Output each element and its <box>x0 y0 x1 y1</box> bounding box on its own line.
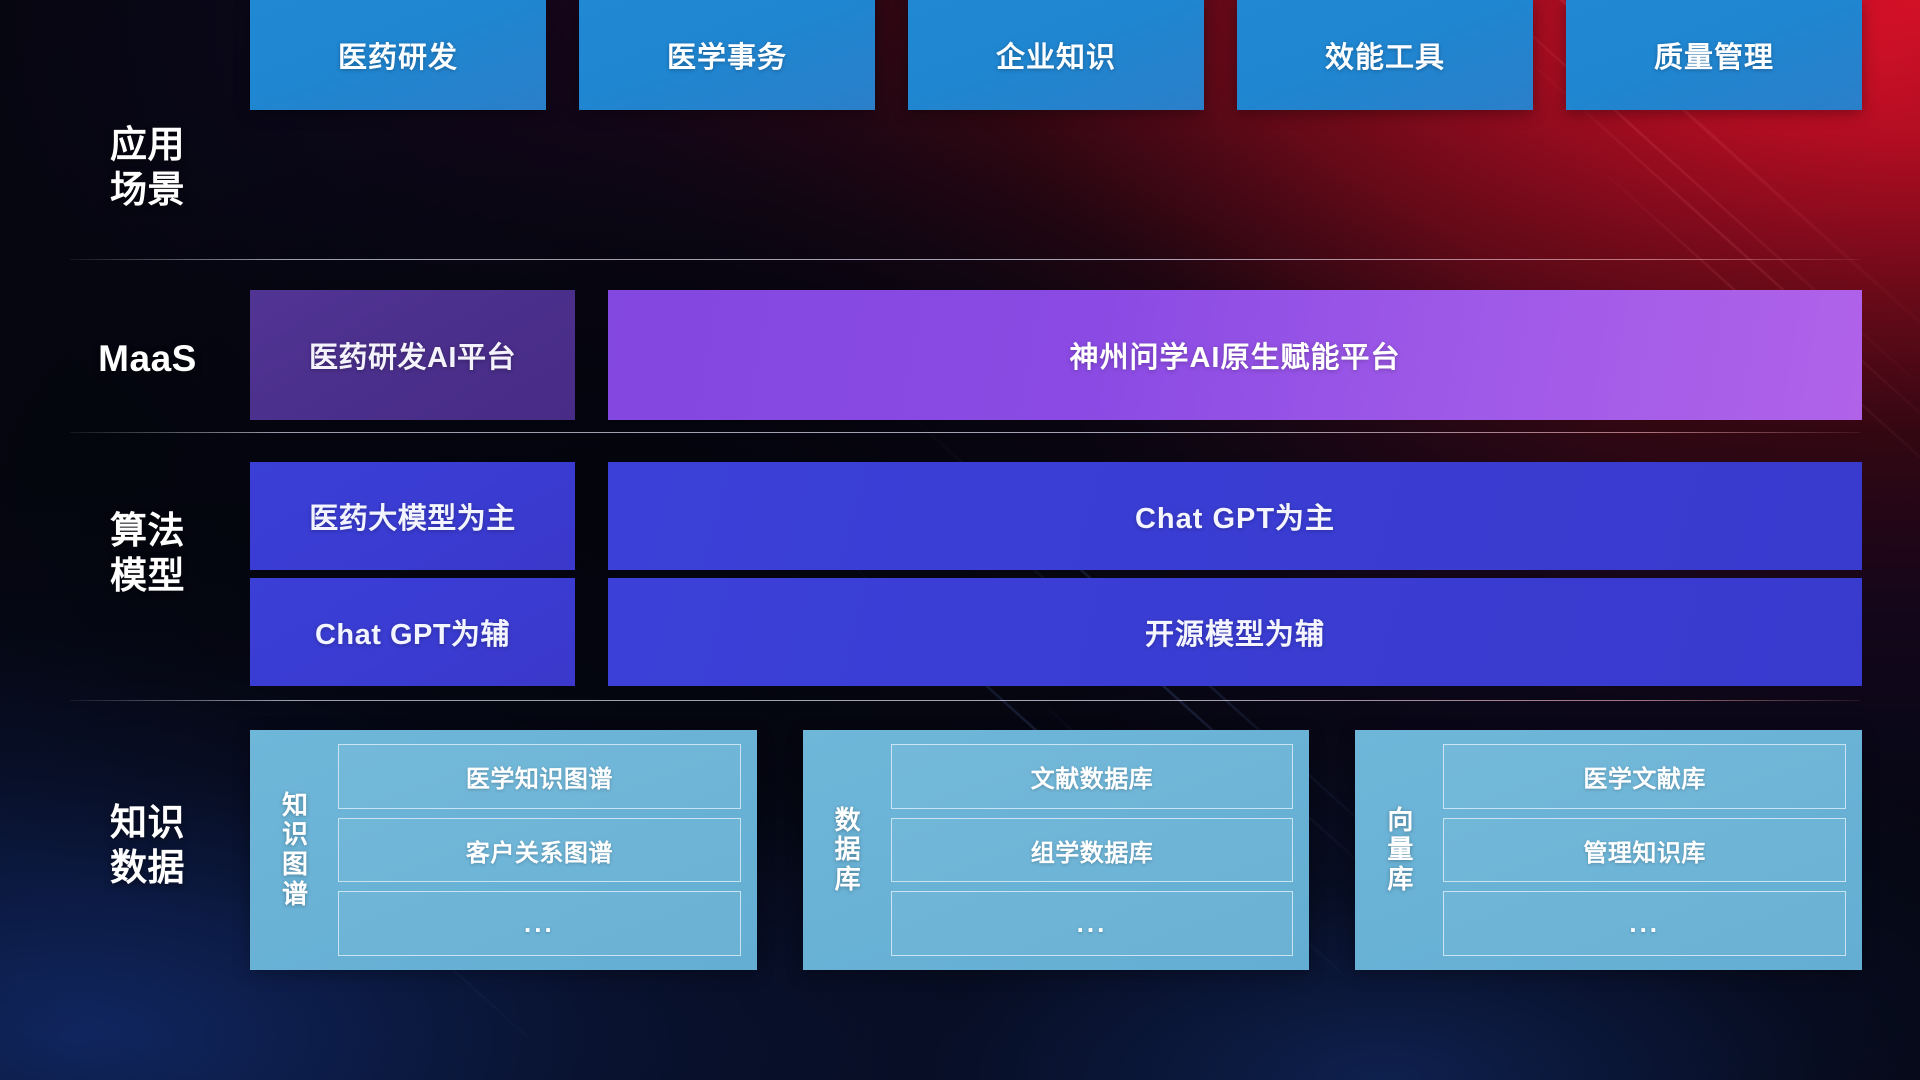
algo-box-chatgpt-secondary[interactable]: Chat GPT为辅 <box>250 578 575 686</box>
knowledge-group-title-database: 数 据 库 <box>817 744 879 956</box>
divider-after-maas <box>70 432 1860 433</box>
app-card-medicine-rd[interactable]: 医药研发 <box>250 0 546 110</box>
title-char: 数 <box>835 806 861 836</box>
knowledge-group-knowledge-graph: 知 识 图 谱 医学知识图谱 客户关系图谱 ... <box>250 730 757 970</box>
knowledge-item-more[interactable]: ... <box>338 891 741 956</box>
knowledge-group-items: 医学文献库 管理知识库 ... <box>1443 744 1846 956</box>
knowledge-item-medical-literature-store[interactable]: 医学文献库 <box>1443 744 1846 809</box>
title-char: 图 <box>282 850 308 880</box>
row-label-line-2: 数据 <box>55 845 240 890</box>
maas-box-label: 神州问学AI原生赋能平台 <box>1069 334 1400 376</box>
knowledge-item-more[interactable]: ... <box>891 891 1294 956</box>
knowledge-item-label: 文献数据库 <box>1031 759 1154 794</box>
knowledge-item-label: 管理知识库 <box>1583 833 1706 868</box>
app-card-label: 效能工具 <box>1325 34 1445 76</box>
knowledge-group-items: 医学知识图谱 客户关系图谱 ... <box>338 744 741 956</box>
row-label-maas: MaaS <box>55 336 240 381</box>
title-char: 量 <box>1387 835 1413 865</box>
knowledge-group-database: 数 据 库 文献数据库 组学数据库 ... <box>803 730 1310 970</box>
knowledge-item-label: 组学数据库 <box>1031 833 1154 868</box>
knowledge-group-title-vector-store: 向 量 库 <box>1369 744 1431 956</box>
row-label-line-1: 应用 <box>55 122 240 167</box>
knowledge-item-omics-database[interactable]: 组学数据库 <box>891 818 1294 883</box>
title-char: 库 <box>1387 865 1413 895</box>
row-label-line-2: 模型 <box>55 553 240 598</box>
title-char: 据 <box>835 835 861 865</box>
knowledge-item-label: ... <box>1077 908 1108 939</box>
row-label-algorithm-model: 算法 模型 <box>55 508 240 598</box>
knowledge-item-label: 医学文献库 <box>1583 759 1706 794</box>
row-label-line-1: 算法 <box>55 508 240 553</box>
app-card-label: 医学事务 <box>667 34 787 76</box>
algo-box-label: 医药大模型为主 <box>309 495 516 537</box>
row-label-line-1: 知识 <box>55 800 240 845</box>
title-char: 向 <box>1387 806 1413 836</box>
knowledge-item-label: ... <box>524 908 555 939</box>
knowledge-item-medical-knowledge-graph[interactable]: 医学知识图谱 <box>338 744 741 809</box>
title-char: 知 <box>282 791 308 821</box>
maas-box-shenzhou-wenxue-platform[interactable]: 神州问学AI原生赋能平台 <box>608 290 1862 420</box>
application-scenario-cards: 医药研发 医学事务 企业知识 效能工具 质量管理 <box>250 0 1862 110</box>
knowledge-item-customer-relation-graph[interactable]: 客户关系图谱 <box>338 818 741 883</box>
app-card-label: 医药研发 <box>338 34 458 76</box>
knowledge-data-groups: 知 识 图 谱 医学知识图谱 客户关系图谱 ... 数 据 <box>250 730 1862 970</box>
row-label-text: MaaS <box>55 336 240 381</box>
knowledge-group-vector-store: 向 量 库 医学文献库 管理知识库 ... <box>1355 730 1862 970</box>
app-card-enterprise-knowledge[interactable]: 企业知识 <box>908 0 1204 110</box>
app-card-medical-affairs[interactable]: 医学事务 <box>579 0 875 110</box>
algo-box-medicine-large-model-primary[interactable]: 医药大模型为主 <box>250 462 575 570</box>
knowledge-group-title-knowledge-graph: 知 识 图 谱 <box>264 744 326 956</box>
algo-box-chatgpt-primary[interactable]: Chat GPT为主 <box>608 462 1862 570</box>
knowledge-item-literature-database[interactable]: 文献数据库 <box>891 744 1294 809</box>
divider-after-application-scenario <box>70 259 1860 260</box>
knowledge-item-management-knowledge-store[interactable]: 管理知识库 <box>1443 818 1846 883</box>
row-label-line-2: 场景 <box>55 167 240 212</box>
row-label-application-scenario: 应用 场景 <box>55 122 240 212</box>
knowledge-item-label: 医学知识图谱 <box>466 759 613 794</box>
app-card-efficiency-tools[interactable]: 效能工具 <box>1237 0 1533 110</box>
row-label-knowledge-data: 知识 数据 <box>55 800 240 890</box>
knowledge-item-label: 客户关系图谱 <box>466 833 613 868</box>
app-card-label: 质量管理 <box>1654 34 1774 76</box>
knowledge-item-label: ... <box>1629 908 1660 939</box>
maas-boxes: 医药研发AI平台 神州问学AI原生赋能平台 <box>250 290 1862 420</box>
app-card-quality-management[interactable]: 质量管理 <box>1566 0 1862 110</box>
algo-box-label: 开源模型为辅 <box>1145 611 1325 653</box>
algo-box-label: Chat GPT为辅 <box>315 611 510 653</box>
knowledge-group-items: 文献数据库 组学数据库 ... <box>891 744 1294 956</box>
algorithm-model-row-primary: 医药大模型为主 Chat GPT为主 <box>250 462 1862 570</box>
knowledge-item-more[interactable]: ... <box>1443 891 1846 956</box>
app-card-label: 企业知识 <box>996 34 1116 76</box>
title-char: 识 <box>282 820 308 850</box>
architecture-diagram: 应用 场景 医药研发 医学事务 企业知识 效能工具 质量管理 MaaS 医药研发… <box>0 0 1920 1080</box>
algo-box-opensource-secondary[interactable]: 开源模型为辅 <box>608 578 1862 686</box>
maas-box-label: 医药研发AI平台 <box>309 334 516 376</box>
algorithm-model-row-secondary: Chat GPT为辅 开源模型为辅 <box>250 578 1862 686</box>
title-char: 谱 <box>282 880 308 910</box>
divider-after-algorithm-model <box>70 700 1860 701</box>
algo-box-label: Chat GPT为主 <box>1135 495 1335 537</box>
maas-box-medicine-rd-ai-platform[interactable]: 医药研发AI平台 <box>250 290 575 420</box>
title-char: 库 <box>835 865 861 895</box>
